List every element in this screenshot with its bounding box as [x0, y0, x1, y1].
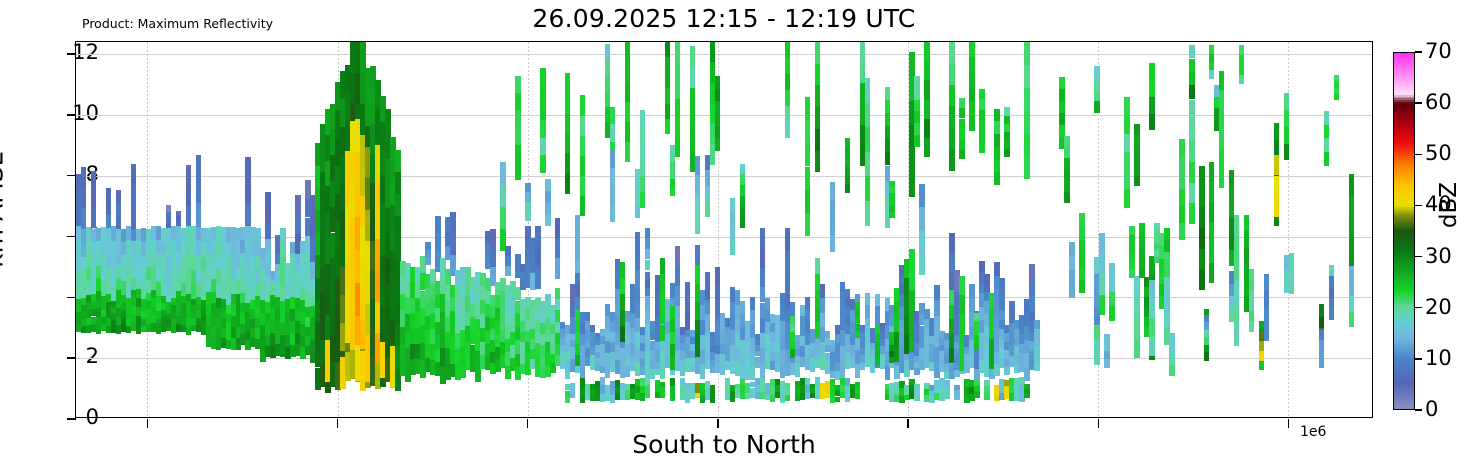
reflectivity-cell: [1324, 125, 1329, 139]
colorbar-tick: [1415, 154, 1422, 155]
reflectivity-cell: [1274, 155, 1279, 176]
reflectivity-cell: [845, 166, 850, 175]
reflectivity-cell: [625, 142, 630, 162]
reflectivity-cell: [605, 44, 610, 60]
reflectivity-cell: [994, 172, 999, 185]
reflectivity-cell: [280, 228, 285, 243]
colorbar-tick: [1415, 205, 1422, 206]
reflectivity-cell: [645, 392, 650, 398]
reflectivity-cell: [1179, 206, 1184, 223]
reflectivity-cell: [949, 42, 954, 63]
reflectivity-cell: [81, 167, 86, 188]
reflectivity-cell: [186, 185, 191, 206]
reflectivity-cell: [1034, 337, 1039, 345]
reflectivity-cell: [545, 191, 550, 203]
x-axis-tick: [717, 419, 718, 428]
reflectivity-cell: [645, 260, 650, 271]
reflectivity-cell: [1069, 256, 1074, 270]
reflectivity-cell: [620, 278, 625, 294]
reflectivity-cell: [944, 380, 949, 386]
reflectivity-cell: [730, 198, 735, 212]
reflectivity-cell: [715, 89, 720, 101]
reflectivity-cell: [295, 215, 300, 235]
reflectivity-cell: [845, 175, 850, 184]
reflectivity-cell: [974, 380, 979, 386]
reflectivity-cell: [545, 214, 550, 226]
reflectivity-cell: [1249, 311, 1254, 322]
reflectivity-cell: [710, 397, 715, 403]
reflectivity-cell: [805, 120, 810, 143]
reflectivity-cell: [705, 272, 710, 286]
reflectivity-cell: [1149, 63, 1154, 80]
reflectivity-cell: [1069, 242, 1074, 256]
reflectivity-cell: [1034, 329, 1039, 337]
reflectivity-cell: [425, 250, 430, 258]
reflectivity-cell: [675, 61, 680, 80]
reflectivity-cell: [785, 106, 790, 122]
reflectivity-cell: [196, 155, 201, 179]
colorbar-label: dBZ: [1436, 182, 1462, 228]
reflectivity-cell: [1209, 162, 1214, 182]
reflectivity-cell: [1134, 155, 1139, 165]
reflectivity-cell: [1189, 183, 1194, 204]
reflectivity-cell: [790, 324, 795, 332]
reflectivity-cell: [1239, 55, 1244, 65]
reflectivity-cell: [515, 128, 520, 145]
reflectivity-cell: [515, 93, 520, 110]
reflectivity-cell: [1259, 351, 1264, 361]
reflectivity-cell: [610, 186, 615, 204]
reflectivity-cell: [919, 184, 924, 207]
reflectivity-cell: [1274, 196, 1279, 217]
reflectivity-cell: [1249, 300, 1254, 311]
reflectivity-cell: [670, 393, 675, 401]
reflectivity-cell: [1334, 94, 1339, 100]
reflectivity-cell: [1199, 166, 1204, 187]
reflectivity-cell: [1329, 265, 1334, 273]
reflectivity-cell: [490, 229, 495, 248]
radar-cross-section-figure: Product: Maximum Reflectivity 26.09.2025…: [0, 0, 1482, 470]
reflectivity-cell: [280, 243, 285, 258]
reflectivity-cell: [1024, 42, 1029, 65]
reflectivity-cell: [785, 395, 790, 401]
reflectivity-cell: [914, 111, 919, 123]
reflectivity-cell: [131, 186, 136, 208]
reflectivity-cell: [1324, 111, 1329, 125]
reflectivity-cell: [665, 119, 670, 134]
reflectivity-cell: [1034, 346, 1039, 354]
reflectivity-cell: [675, 306, 680, 317]
reflectivity-cell: [979, 143, 984, 154]
reflectivity-cell: [610, 150, 615, 168]
reflectivity-cell: [715, 114, 720, 126]
reflectivity-cell: [610, 107, 615, 124]
reflectivity-cell: [820, 313, 825, 327]
reflectivity-cell: [914, 390, 919, 395]
reflectivity-cell: [855, 393, 860, 399]
reflectivity-cell: [540, 86, 545, 103]
reflectivity-cell: [785, 122, 790, 138]
reflectivity-cell: [1349, 174, 1354, 195]
reflectivity-cell: [1289, 267, 1294, 274]
reflectivity-cell: [909, 249, 914, 270]
reflectivity-cell: [265, 252, 270, 265]
reflectivity-cell: [1064, 136, 1069, 147]
reflectivity-cell: [555, 299, 560, 310]
reflectivity-cell: [994, 160, 999, 173]
reflectivity-cell: [505, 246, 510, 256]
reflectivity-cell: [705, 300, 710, 314]
reflectivity-cell: [660, 393, 665, 398]
reflectivity-data-layer: [76, 42, 1372, 417]
reflectivity-cell: [91, 190, 96, 209]
reflectivity-cell: [1129, 243, 1134, 252]
reflectivity-cell: [855, 316, 860, 323]
reflectivity-cell: [1164, 311, 1169, 328]
reflectivity-cell: [1069, 284, 1074, 298]
reflectivity-cell: [959, 276, 964, 295]
reflectivity-cell: [1079, 226, 1084, 239]
reflectivity-cell: [1024, 88, 1029, 111]
reflectivity-cell: [690, 130, 695, 151]
reflectivity-cell: [620, 294, 625, 310]
reflectivity-cell: [730, 241, 735, 255]
reflectivity-cell: [1164, 228, 1169, 240]
reflectivity-cell: [245, 180, 250, 203]
reflectivity-cell: [665, 73, 670, 88]
reflectivity-cell: [1094, 326, 1099, 339]
reflectivity-cell: [1264, 290, 1269, 307]
reflectivity-cell: [1129, 235, 1134, 244]
reflectivity-cell: [855, 388, 860, 394]
reflectivity-cell: [515, 145, 520, 162]
reflectivity-cell: [944, 393, 949, 399]
reflectivity-cell: [909, 149, 914, 173]
reflectivity-cell: [820, 298, 825, 312]
reflectivity-cell: [705, 314, 710, 323]
reflectivity-cell: [645, 379, 650, 385]
reflectivity-cell: [540, 138, 545, 155]
reflectivity-cell: [785, 273, 790, 295]
reflectivity-cell: [715, 284, 720, 301]
reflectivity-cell: [1189, 100, 1194, 121]
reflectivity-cell: [1079, 240, 1084, 253]
reflectivity-cell: [954, 385, 959, 390]
reflectivity-cell: [1179, 189, 1184, 206]
reflectivity-cell: [1334, 81, 1339, 87]
reflectivity-cell: [1189, 45, 1194, 58]
reflectivity-cell: [176, 216, 181, 221]
reflectivity-cell: [265, 239, 270, 252]
reflectivity-cell: [1284, 93, 1289, 110]
reflectivity-cell: [760, 268, 765, 288]
reflectivity-cell: [605, 75, 610, 91]
reflectivity-cell: [625, 62, 630, 82]
reflectivity-cell: [944, 387, 949, 393]
reflectivity-cell: [640, 126, 645, 142]
reflectivity-cell: [820, 284, 825, 298]
reflectivity-cell: [1264, 307, 1269, 324]
reflectivity-cell: [675, 118, 680, 137]
reflectivity-cell: [555, 258, 560, 278]
reflectivity-cell: [1349, 266, 1354, 281]
reflectivity-cell: [395, 238, 400, 260]
reflectivity-cell: [969, 57, 974, 72]
reflectivity-cell: [949, 63, 954, 84]
reflectivity-cell: [515, 162, 520, 179]
reflectivity-cell: [295, 195, 300, 215]
colorbar-tick: [1415, 102, 1422, 103]
reflectivity-cell: [805, 309, 810, 321]
reflectivity-cell: [685, 298, 690, 314]
reflectivity-cell: [555, 310, 560, 321]
reflectivity-cell: [635, 288, 640, 303]
reflectivity-cell: [1024, 389, 1029, 394]
reflectivity-cell: [675, 99, 680, 118]
reflectivity-cell: [1189, 203, 1194, 224]
reflectivity-cell: [705, 201, 710, 216]
reflectivity-cell: [1204, 352, 1209, 361]
x-axis-tick: [147, 419, 148, 428]
reflectivity-cell: [1034, 320, 1039, 328]
reflectivity-cell: [610, 168, 615, 186]
reflectivity-cell: [515, 254, 520, 262]
reflectivity-cell: [865, 176, 870, 201]
reflectivity-cell: [1004, 367, 1009, 375]
x-axis-label: South to North: [75, 430, 1373, 459]
reflectivity-cell: [969, 102, 974, 117]
reflectivity-cell: [845, 289, 850, 298]
reflectivity-cell: [715, 126, 720, 138]
reflectivity-cell: [1209, 182, 1214, 202]
reflectivity-cell: [1199, 269, 1204, 290]
reflectivity-cell: [131, 164, 136, 186]
reflectivity-cell: [710, 385, 715, 391]
reflectivity-cell: [255, 228, 260, 242]
reflectivity-cell: [1349, 312, 1354, 327]
reflectivity-cell: [1129, 226, 1134, 235]
reflectivity-cell: [116, 190, 121, 203]
reflectivity-cell: [645, 238, 650, 249]
reflectivity-cell: [1219, 71, 1224, 91]
reflectivity-cell: [1024, 394, 1029, 399]
reflectivity-cell: [555, 218, 560, 238]
reflectivity-cell: [1249, 321, 1254, 332]
reflectivity-cell: [1239, 65, 1244, 75]
reflectivity-cell: [1179, 223, 1184, 240]
reflectivity-cell: [914, 76, 919, 88]
colorbar-tick-label: 0: [1425, 399, 1438, 420]
reflectivity-cell: [750, 310, 755, 324]
reflectivity-cell: [490, 248, 495, 267]
reflectivity-cell: [675, 286, 680, 306]
reflectivity-cell: [1149, 280, 1154, 299]
reflectivity-cell: [885, 113, 890, 126]
reflectivity-cell: [1209, 243, 1214, 263]
reflectivity-cell: [1209, 45, 1214, 53]
reflectivity-cell: [999, 299, 1004, 310]
reflectivity-cell: [909, 173, 914, 197]
reflectivity-cell: [815, 85, 820, 107]
reflectivity-cell: [865, 293, 870, 305]
reflectivity-cell: [186, 165, 191, 186]
reflectivity-cell: [865, 78, 870, 103]
reflectivity-cell: [645, 228, 650, 239]
reflectivity-cell: [515, 110, 520, 127]
reflectivity-cell: [1004, 149, 1009, 157]
reflectivity-cell: [1094, 78, 1099, 90]
reflectivity-cell: [885, 366, 890, 380]
colorbar-tick-label: 20: [1425, 297, 1452, 318]
reflectivity-cell: [715, 267, 720, 284]
reflectivity-cell: [565, 73, 570, 93]
reflectivity-cell: [1234, 259, 1239, 281]
reflectivity-cell: [176, 221, 181, 226]
reflectivity-cell: [865, 152, 870, 177]
reflectivity-cell: [1264, 324, 1269, 341]
reflectivity-cell: [1289, 288, 1294, 295]
reflectivity-cell: [1244, 215, 1249, 231]
reflectivity-cell: [1069, 270, 1074, 284]
reflectivity-cell: [924, 100, 929, 119]
reflectivity-cell: [106, 201, 111, 215]
reflectivity-cell: [1004, 132, 1009, 140]
reflectivity-cell: [540, 68, 545, 85]
reflectivity-cell: [1134, 276, 1139, 297]
reflectivity-cell: [1099, 233, 1104, 254]
reflectivity-cell: [1134, 135, 1139, 145]
reflectivity-cell: [1189, 59, 1194, 72]
reflectivity-cell: [690, 67, 695, 88]
reflectivity-cell: [565, 93, 570, 113]
reflectivity-cell: [959, 139, 964, 149]
reflectivity-cell: [805, 143, 810, 166]
reflectivity-cell: [1109, 306, 1114, 320]
reflectivity-cell: [1284, 127, 1289, 144]
reflectivity-cell: [705, 170, 710, 185]
reflectivity-cell: [395, 216, 400, 238]
reflectivity-cell: [1239, 45, 1244, 55]
reflectivity-cell: [640, 143, 645, 159]
reflectivity-cell: [1099, 274, 1104, 295]
reflectivity-cell: [1079, 267, 1084, 280]
reflectivity-cell: [625, 82, 630, 102]
reflectivity-cell: [1199, 207, 1204, 228]
colorbar-tick-label: 70: [1425, 41, 1452, 62]
reflectivity-cell: [500, 207, 505, 229]
reflectivity-cell: [1064, 147, 1069, 158]
reflectivity-cell: [670, 386, 675, 394]
reflectivity-cell: [959, 314, 964, 333]
reflectivity-cell: [1249, 290, 1254, 301]
reflectivity-cell: [785, 383, 790, 389]
reflectivity-cell: [1004, 124, 1009, 132]
reflectivity-cell: [1099, 295, 1104, 316]
reflectivity-cell: [715, 101, 720, 113]
reflectivity-cell: [815, 64, 820, 86]
reflectivity-cell: [1094, 66, 1099, 78]
reflectivity-cell: [1079, 213, 1084, 226]
reflectivity-cell: [695, 214, 700, 234]
reflectivity-cell: [1059, 77, 1064, 89]
reflectivity-cell: [1124, 115, 1129, 134]
reflectivity-cell: [640, 110, 645, 126]
reflectivity-cell: [91, 209, 96, 228]
reflectivity-cell: [959, 119, 964, 129]
reflectivity-cell: [675, 80, 680, 99]
reflectivity-cell: [660, 387, 665, 392]
reflectivity-cell: [1209, 70, 1214, 78]
reflectivity-cell: [610, 204, 615, 222]
reflectivity-cell: [889, 181, 894, 187]
reflectivity-cell: [1064, 181, 1069, 192]
reflectivity-cell: [1024, 65, 1029, 88]
reflectivity-cell: [924, 42, 929, 61]
reflectivity-cell: [1219, 168, 1224, 188]
reflectivity-cell: [1319, 304, 1324, 313]
reflectivity-cell: [635, 251, 640, 270]
reflectivity-cell: [580, 95, 585, 115]
reflectivity-cell: [1034, 363, 1039, 371]
reflectivity-cell: [865, 127, 870, 152]
reflectivity-cell: [575, 230, 580, 244]
reflectivity-cell: [934, 316, 939, 332]
reflectivity-cell: [535, 226, 540, 247]
reflectivity-cell: [1109, 292, 1114, 306]
reflectivity-cell: [969, 42, 974, 57]
reflectivity-cell: [1349, 281, 1354, 296]
reflectivity-cell: [710, 391, 715, 397]
reflectivity-cell: [565, 153, 570, 173]
reflectivity-cell: [885, 126, 890, 139]
reflectivity-cell: [785, 250, 790, 272]
reflectivity-cell: [974, 392, 979, 398]
reflectivity-cell: [395, 150, 400, 172]
reflectivity-cell: [1139, 241, 1144, 250]
reflectivity-cell: [1249, 269, 1254, 280]
reflectivity-cell: [1029, 280, 1034, 296]
reflectivity-cell: [979, 99, 984, 110]
reflectivity-cell: [1319, 317, 1324, 328]
reflectivity-cell: [500, 185, 505, 207]
reflectivity-cell: [934, 300, 939, 316]
reflectivity-cell: [695, 245, 700, 258]
reflectivity-cell: [924, 61, 929, 80]
reflectivity-cell: [565, 133, 570, 153]
reflectivity-cell: [1064, 192, 1069, 203]
reflectivity-cell: [1259, 341, 1264, 351]
reflectivity-cell: [565, 173, 570, 193]
reflectivity-cell: [580, 156, 585, 176]
reflectivity-cell: [670, 378, 675, 386]
reflectivity-cell: [665, 88, 670, 103]
reflectivity-cell: [785, 42, 790, 58]
reflectivity-cell: [1234, 237, 1239, 259]
reflectivity-cell: [625, 42, 630, 62]
reflectivity-cell: [760, 228, 765, 248]
reflectivity-cell: [1204, 322, 1209, 330]
reflectivity-cell: [450, 212, 455, 233]
reflectivity-cell: [760, 248, 765, 268]
reflectivity-cell: [1179, 156, 1184, 173]
reflectivity-cell: [949, 128, 954, 149]
reflectivity-cell: [695, 175, 700, 195]
reflectivity-cell: [1094, 90, 1099, 102]
reflectivity-cell: [166, 212, 171, 220]
reflectivity-cell: [1134, 124, 1139, 134]
reflectivity-cell: [994, 147, 999, 160]
reflectivity-cell: [1324, 152, 1329, 166]
